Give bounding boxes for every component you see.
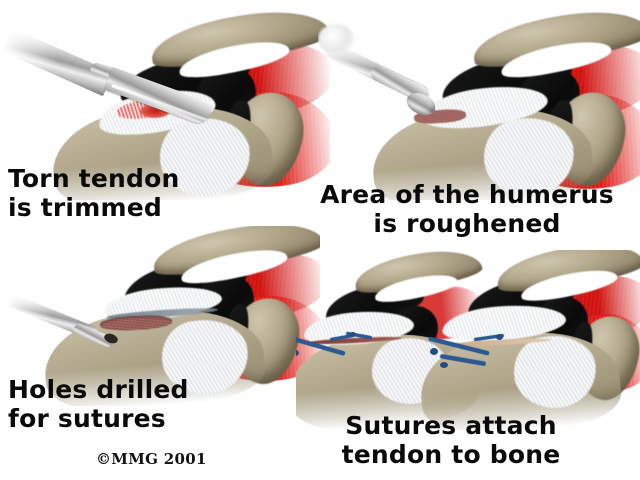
caption-panel-2: Area of the humerus is roughened: [302, 180, 632, 238]
burr-hand-grip: [318, 24, 354, 54]
suture-knot-1[interactable]: [296, 350, 299, 356]
panel-humerus-roughened: [318, 0, 640, 200]
suture-knot-2[interactable]: [350, 332, 356, 337]
copyright-notice: ©MMG 2001: [96, 450, 207, 468]
illustration-canvas: Torn tendon is trimmed Area of the h: [0, 0, 640, 480]
panel-4-artwork: [296, 250, 640, 430]
caption-panel-1: Torn tendon is trimmed: [8, 164, 180, 222]
suture-knot-2[interactable]: [496, 334, 503, 340]
caption-panel-3: Holes drilled for sutures: [8, 375, 189, 433]
suture-subview-b: [426, 250, 640, 430]
panel-2-artwork: [318, 0, 640, 200]
suture-knot-3[interactable]: [440, 362, 448, 368]
suture-knot-1[interactable]: [430, 348, 438, 355]
caption-panel-4: Sutures attach tendon to bone: [292, 411, 610, 469]
panel-sutures-attach: [296, 250, 640, 430]
